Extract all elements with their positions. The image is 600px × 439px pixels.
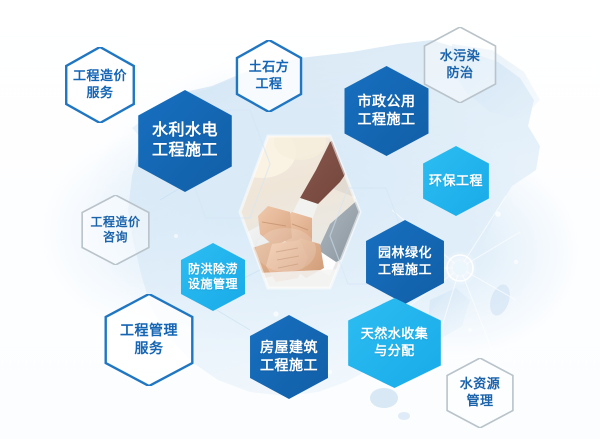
hexagon-tushifang-gongcheng[interactable]: 土石方 工程 [232, 40, 306, 112]
hexagon-label: 房屋建筑 工程施工 [256, 339, 322, 375]
hexagon-label: 工程造价 服务 [69, 68, 131, 101]
hexagon-label: 防洪除涝 设施管理 [184, 262, 242, 293]
hexagon-gongcheng-guanli-fuwu[interactable]: 工程管理 服务 [99, 294, 199, 386]
hexagon-label: 水利水电 工程施工 [148, 121, 222, 162]
infographic-canvas: 工程造价 服务 土石方 工程 水利水电 工程施工 [0, 0, 600, 439]
hexagon-label: 市政公用 工程施工 [354, 93, 420, 129]
hexagon-label: 工程造价 咨询 [86, 215, 144, 246]
hexagon-shuiziyuan-guanli[interactable]: 水资源 管理 [442, 358, 518, 428]
hexagon-label: 水污染 防治 [436, 48, 485, 81]
hexagon-label: 水资源 管理 [456, 376, 505, 409]
hexagon-tianranshui-shouji-yu-fenpei[interactable]: 天然水收集 与分配 [341, 298, 448, 388]
hexagon-yuanlin-lvhua-gongcheng-shigong[interactable]: 园林绿化 工程施工 [360, 220, 450, 304]
hexagon-huanbao-gongcheng[interactable]: 环保工程 [418, 146, 494, 216]
hexagon-gongcheng-zaojia-zixun[interactable]: 工程造价 咨询 [77, 195, 154, 265]
hexagon-fangwu-jianzhu-gongcheng-shigong[interactable]: 房屋建筑 工程施工 [244, 315, 334, 399]
hexagon-label: 工程管理 服务 [116, 322, 182, 358]
hexagon-label: 园林绿化 工程施工 [374, 245, 436, 278]
hexagon-gongcheng-zaojia-fuwu[interactable]: 工程造价 服务 [61, 47, 139, 123]
hexagon-label: 土石方 工程 [245, 59, 294, 92]
hexagon-label: 环保工程 [425, 173, 487, 190]
hexagon-shuili-shuidian-gongcheng-shigong[interactable]: 水利水电 工程施工 [131, 90, 239, 192]
hexagon-shuiwuran-fangzhi[interactable]: 水污染 防治 [419, 27, 501, 103]
hexagon-label: 天然水收集 与分配 [357, 326, 433, 359]
